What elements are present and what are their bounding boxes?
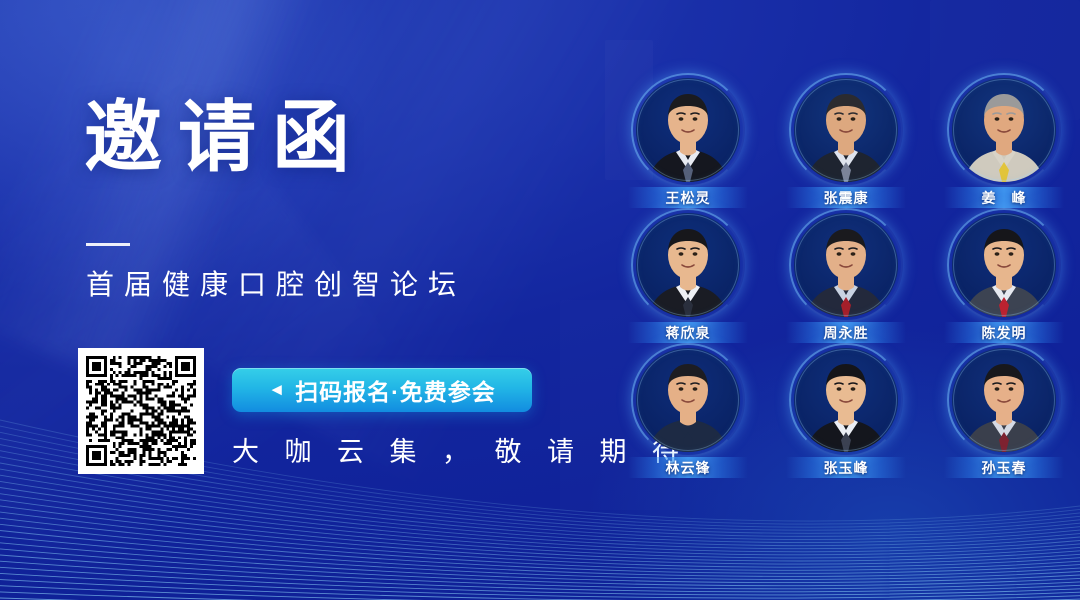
speaker-card[interactable]: 陈发明 bbox=[928, 213, 1080, 348]
speaker-card[interactable]: 林云锋 bbox=[612, 348, 764, 483]
speaker-name-badge: 姜 峰 bbox=[944, 187, 1064, 208]
avatar bbox=[794, 348, 898, 452]
avatar-inner-ring bbox=[953, 214, 1055, 316]
speaker-name-badge: 张震康 bbox=[786, 187, 906, 208]
title-divider bbox=[86, 243, 130, 246]
speaker-name-badge: 陈发明 bbox=[944, 322, 1064, 343]
speaker-name-badge: 王松灵 bbox=[628, 187, 748, 208]
avatar-inner-ring bbox=[953, 79, 1055, 181]
page-title: 邀请函 bbox=[84, 98, 366, 176]
qr-code[interactable] bbox=[78, 348, 204, 474]
avatar bbox=[794, 213, 898, 317]
speaker-name-badge: 孙玉春 bbox=[944, 457, 1064, 478]
avatar bbox=[952, 213, 1056, 317]
speaker-card[interactable]: 张震康 bbox=[770, 78, 922, 213]
event-subtitle: 首届健康口腔创智论坛 bbox=[86, 268, 466, 302]
avatar-inner-ring bbox=[795, 349, 897, 451]
speaker-card[interactable]: 蒋欣泉 bbox=[612, 213, 764, 348]
speaker-card[interactable]: 张玉峰 bbox=[770, 348, 922, 483]
avatar-inner-ring bbox=[953, 349, 1055, 451]
speaker-name-badge: 林云锋 bbox=[628, 457, 748, 478]
register-button-label: 扫码报名·免费参会 bbox=[295, 373, 496, 407]
speaker-name-badge: 蒋欣泉 bbox=[628, 322, 748, 343]
avatar-inner-ring bbox=[637, 79, 739, 181]
avatar-inner-ring bbox=[795, 79, 897, 181]
avatar-inner-ring bbox=[637, 349, 739, 451]
speaker-card[interactable]: 周永胜 bbox=[770, 213, 922, 348]
register-button[interactable]: ◄ 扫码报名·免费参会 bbox=[232, 368, 532, 412]
avatar bbox=[636, 213, 740, 317]
speaker-card[interactable]: 孙玉春 bbox=[928, 348, 1080, 483]
avatar bbox=[952, 78, 1056, 182]
speaker-name-badge: 张玉峰 bbox=[786, 457, 906, 478]
invitation-poster: 邀请函 首届健康口腔创智论坛 ◄ 扫码报名·免费参会 大 咖 云 集 ， 敬 请… bbox=[0, 0, 1080, 600]
speaker-name-badge: 周永胜 bbox=[786, 322, 906, 343]
avatar-inner-ring bbox=[637, 214, 739, 316]
left-content-column: 邀请函 首届健康口腔创智论坛 ◄ 扫码报名·免费参会 大 咖 云 集 ， 敬 请… bbox=[0, 0, 600, 600]
avatar bbox=[794, 78, 898, 182]
avatar-inner-ring bbox=[795, 214, 897, 316]
speaker-card[interactable]: 姜 峰 bbox=[928, 78, 1080, 213]
avatar bbox=[952, 348, 1056, 452]
qr-code-canvas bbox=[86, 356, 196, 466]
avatar bbox=[636, 78, 740, 182]
left-triangle-icon: ◄ bbox=[268, 381, 286, 398]
avatar bbox=[636, 348, 740, 452]
speakers-grid: 王松灵张震康姜 峰蒋欣泉周永胜陈发明林云锋张玉峰孙玉春 bbox=[612, 78, 1068, 483]
speaker-card[interactable]: 王松灵 bbox=[612, 78, 764, 213]
